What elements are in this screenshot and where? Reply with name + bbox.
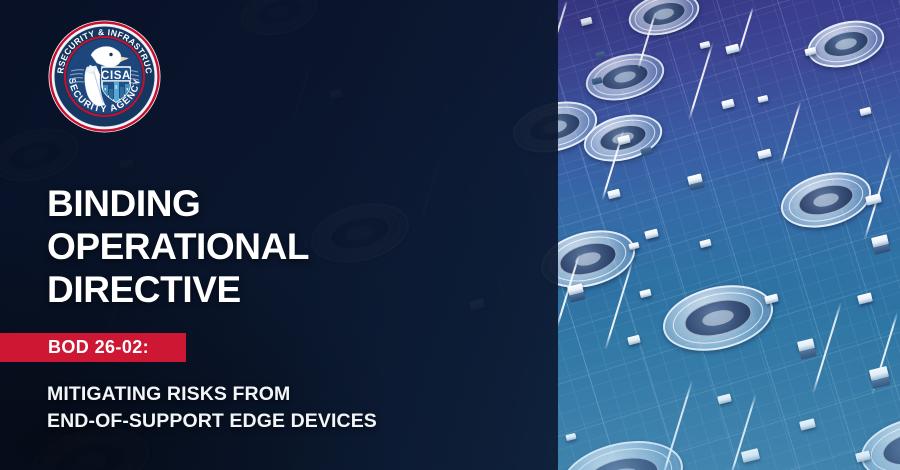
- bod-number-ribbon: BOD 26-02:: [0, 333, 186, 362]
- headline-line-1: BINDING: [47, 182, 309, 225]
- bod-number-label: BOD 26-02:: [0, 337, 149, 358]
- banner-content: CYBERSECURITY & INFRASTRUCTURE SECURITY …: [0, 0, 558, 470]
- bod-banner: CYBERSECURITY & INFRASTRUCTURE SECURITY …: [0, 0, 900, 470]
- cisa-seal-medallion-icon: [586, 60, 587, 61]
- headline-line-3: DIRECTIVE: [47, 268, 309, 311]
- page-title: BINDING OPERATIONAL DIRECTIVE: [47, 182, 309, 311]
- subtitle-line-2: END-OF-SUPPORT EDGE DEVICES: [47, 408, 377, 435]
- headline-line-2: OPERATIONAL: [47, 225, 309, 268]
- page-subtitle: MITIGATING RISKS FROM END-OF-SUPPORT EDG…: [47, 381, 377, 435]
- svg-text:CISA: CISA: [101, 70, 131, 82]
- subtitle-line-1: MITIGATING RISKS FROM: [47, 381, 377, 408]
- cisa-seal-icon: CYBERSECURITY & INFRASTRUCTURE SECURITY …: [47, 19, 162, 134]
